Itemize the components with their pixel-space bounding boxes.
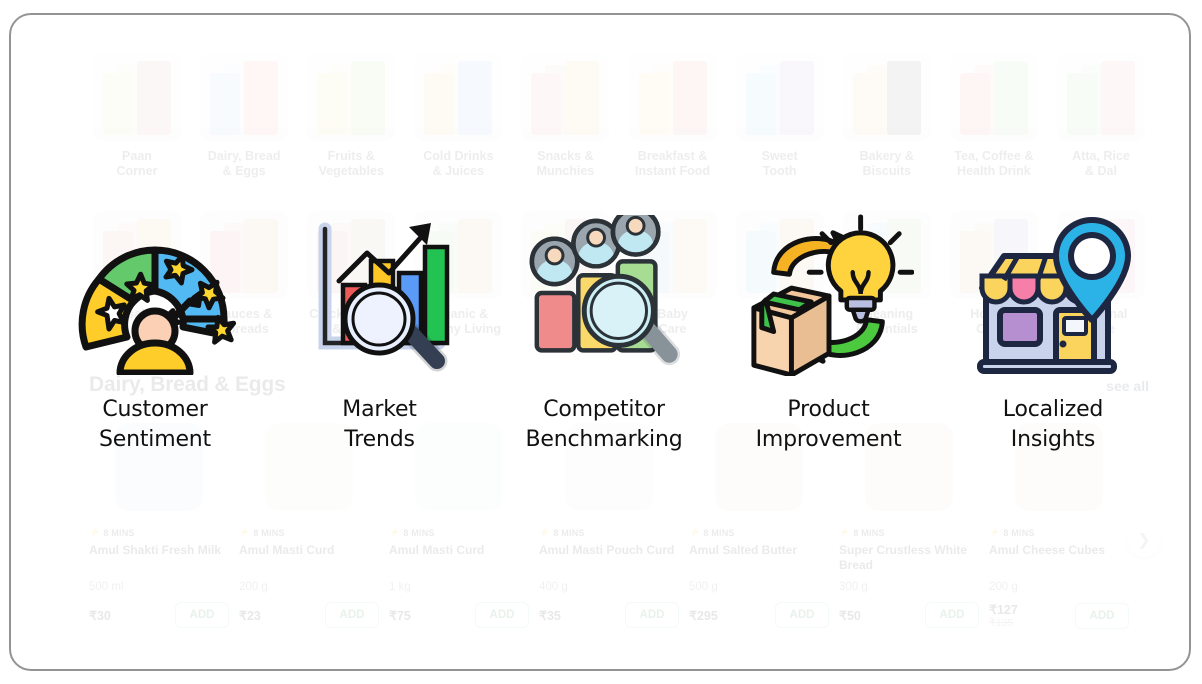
background-product-price: ₹35 [539,608,561,623]
capability-card-product-improvement[interactable]: Product Improvement [729,211,929,455]
background-category-label: Fruits & Vegetables [303,149,399,179]
background-category-tile[interactable]: Sweet Tooth [732,53,828,179]
background-category-label: Bakery & Biscuits [839,149,935,179]
background-product-price: ₹75 [389,608,411,623]
background-add-to-cart-button[interactable]: ADD [325,602,379,628]
background-category-image [629,53,717,141]
background-category-image [200,53,288,141]
background-add-to-cart-button[interactable]: ADD [475,602,529,628]
background-category-image [1057,53,1145,141]
background-category-label: Tea, Coffee & Health Drink [946,149,1042,179]
background-product-eta-text: 8 MINS [553,528,584,538]
background-category-image [736,53,824,141]
background-category-label: Snacks & Munchies [517,149,613,179]
background-category-tile[interactable]: Snacks & Munchies [517,53,613,179]
background-product-eta: ⚡8 MINS [89,527,229,538]
background-add-to-cart-button[interactable]: ADD [1075,603,1129,629]
background-category-label: Atta, Rice & Dal [1053,149,1149,179]
background-category-tile[interactable]: Atta, Rice & Dal [1053,53,1149,179]
capability-label: Product Improvement [756,395,902,455]
background-category-label: Paan Corner [89,149,185,179]
background-product-weight: 1 kg [389,581,529,593]
background-product-mrp: ₹135 [989,617,1018,629]
box-lightbulb-cycle-icon [744,211,914,379]
background-product-buy-row: ₹23ADD [239,602,379,628]
background-product-eta: ⚡8 MINS [239,527,379,538]
background-category-image [843,53,931,141]
background-product-eta: ⚡8 MINS [989,527,1129,538]
background-product-eta-text: 8 MINS [403,528,434,538]
background-category-image [521,53,609,141]
background-category-tile[interactable]: Fruits & Vegetables [303,53,399,179]
background-product-eta-text: 8 MINS [103,528,134,538]
background-product-weight: 300 g [839,581,979,593]
background-category-tile[interactable]: Breakfast & Instant Food [625,53,721,179]
background-category-tile[interactable]: Tea, Coffee & Health Drink [946,53,1042,179]
capability-label: Market Trends [342,395,416,455]
background-product-price: ₹23 [239,608,261,623]
bar-chart-trend-magnifier-icon [295,211,465,379]
storefront-location-pin-icon [968,211,1138,379]
lightning-bolt-icon: ⚡ [839,527,850,538]
background-product-buy-row: ₹295ADD [689,602,829,628]
background-add-to-cart-button[interactable]: ADD [775,602,829,628]
background-product-price: ₹50 [839,608,861,623]
lightning-bolt-icon: ⚡ [539,527,550,538]
background-product-buy-row: ₹30ADD [89,602,229,628]
background-product-eta: ⚡8 MINS [839,527,979,538]
capability-label: Customer Sentiment [99,395,211,455]
background-product-buy-row: ₹50ADD [839,602,979,628]
background-product-eta-text: 8 MINS [703,528,734,538]
rounded-frame: Paan CornerDairy, Bread & EggsFruits & V… [9,13,1191,671]
background-category-tile[interactable]: Bakery & Biscuits [839,53,935,179]
background-product-eta: ⚡8 MINS [539,527,679,538]
background-product-weight: 200 g [989,581,1129,593]
background-product-name: Amul Masti Pouch Curd [539,543,679,573]
background-product-name: Amul Masti Curd [239,543,379,573]
background-product-weight: 400 g [539,581,679,593]
background-product-name: Amul Shakti Fresh Milk [89,543,229,573]
capability-label: Competitor Benchmarking [526,395,683,455]
satisfaction-gauge-icon [70,211,240,379]
capability-card-competitor-benchmarking[interactable]: Competitor Benchmarking [504,211,704,455]
background-product-name: Amul Salted Butter [689,543,829,573]
background-category-tile[interactable]: Cold Drinks & Juices [410,53,506,179]
background-category-image [93,53,181,141]
background-product-weight: 500 ml [89,581,229,593]
background-add-to-cart-button[interactable]: ADD [625,602,679,628]
background-add-to-cart-button[interactable]: ADD [925,602,979,628]
lightning-bolt-icon: ⚡ [239,527,250,538]
user-bars-magnifier-icon [519,211,689,379]
capability-label: Localized Insights [1003,395,1103,455]
background-add-to-cart-button[interactable]: ADD [175,602,229,628]
chevron-right-icon[interactable]: ❯ [1127,523,1161,557]
background-product-buy-row: ₹127₹135ADD [989,602,1129,629]
background-product-name: Super Crustless White Bread [839,543,979,573]
capability-card-market-trends[interactable]: Market Trends [280,211,480,455]
background-category-tile[interactable]: Paan Corner [89,53,185,179]
background-product-buy-row: ₹35ADD [539,602,679,628]
capability-list: Customer Sentiment [55,211,1153,455]
background-product-name: Amul Cheese Cubes [989,543,1129,573]
background-product-eta-text: 8 MINS [853,528,884,538]
background-category-label: Cold Drinks & Juices [410,149,506,179]
background-product-eta: ⚡8 MINS [689,527,829,538]
background-category-image [307,53,395,141]
background-product-weight: 500 g [689,581,829,593]
lightning-bolt-icon: ⚡ [89,527,100,538]
background-category-image [950,53,1038,141]
lightning-bolt-icon: ⚡ [989,527,1000,538]
lightning-bolt-icon: ⚡ [689,527,700,538]
background-category-image [414,53,502,141]
background-product-price: ₹295 [689,608,718,623]
lightning-bolt-icon: ⚡ [389,527,400,538]
background-product-name: Amul Masti Curd [389,543,529,573]
capability-card-localized-insights[interactable]: Localized Insights [953,211,1153,455]
capability-card-customer-sentiment[interactable]: Customer Sentiment [55,211,255,455]
background-product-eta-text: 8 MINS [253,528,284,538]
background-product-buy-row: ₹75ADD [389,602,529,628]
background-category-tile[interactable]: Dairy, Bread & Eggs [196,53,292,179]
background-category-label: Dairy, Bread & Eggs [196,149,292,179]
background-product-eta-text: 8 MINS [1003,528,1034,538]
background-category-label: Breakfast & Instant Food [625,149,721,179]
slide-canvas: Paan CornerDairy, Bread & EggsFruits & V… [0,0,1202,684]
background-product-weight: 200 g [239,581,379,593]
background-product-eta: ⚡8 MINS [389,527,529,538]
background-category-row-1: Paan CornerDairy, Bread & EggsFruits & V… [89,53,1149,179]
background-product-price: ₹30 [89,608,111,623]
background-product-price: ₹127₹135 [989,602,1018,629]
background-category-label: Sweet Tooth [732,149,828,179]
